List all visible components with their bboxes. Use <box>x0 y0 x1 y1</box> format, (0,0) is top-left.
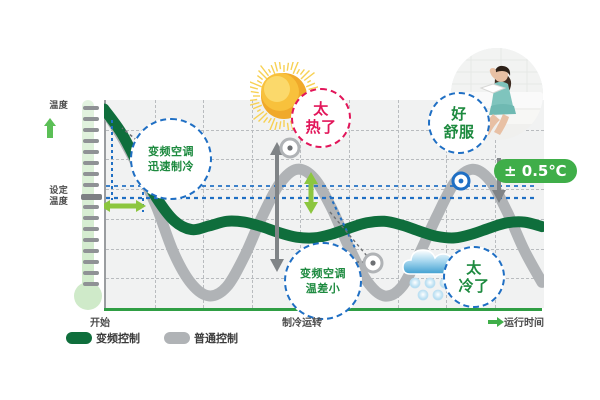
tolerance-badge: ± 0.5℃ <box>494 159 577 183</box>
legend-swatch-inverter <box>66 332 92 344</box>
x-axis-time-label: 运行时间 <box>504 314 544 329</box>
legend-item-inverter: 变频控制 <box>66 330 140 346</box>
callout-fast-cooling: 变频空调 迅速制冷 <box>130 118 212 200</box>
callout-fast-cooling-line1: 变频空调 <box>148 144 194 159</box>
callout-fast-cooling-line2: 迅速制冷 <box>148 159 194 174</box>
callout-too-hot: 太 热了 <box>291 88 351 148</box>
callout-comfortable-line2: 舒服 <box>443 123 474 141</box>
callout-comfortable: 好 舒服 <box>428 92 490 154</box>
callout-small-swing: 变频空调 温差小 <box>284 242 362 320</box>
callout-too-cold-line2: 冷了 <box>458 277 489 295</box>
chart-legend: 变频控制 普通控制 <box>66 330 256 346</box>
fast-cooling-arrow <box>100 200 146 212</box>
diagram-canvas: 温度 设定温度 <box>0 0 600 400</box>
callout-too-cold: 太 冷了 <box>443 246 505 308</box>
x-axis-start-label: 开始 <box>90 314 110 329</box>
callout-too-cold-line1: 太 <box>466 259 482 277</box>
callout-too-hot-line1: 太 <box>313 100 329 118</box>
callout-too-hot-line2: 热了 <box>305 118 336 136</box>
legend-label-inverter: 变频控制 <box>96 330 140 346</box>
x-axis-mode-label: 制冷运转 <box>282 314 322 329</box>
callout-comfortable-line1: 好 <box>451 105 467 123</box>
legend-swatch-normal <box>164 332 190 344</box>
callout-small-swing-line1: 变频空调 <box>300 266 346 281</box>
callout-small-swing-line2: 温差小 <box>306 281 341 296</box>
legend-label-normal: 普通控制 <box>194 330 238 346</box>
legend-item-normal: 普通控制 <box>164 330 238 346</box>
arrow-right-icon <box>488 317 504 327</box>
